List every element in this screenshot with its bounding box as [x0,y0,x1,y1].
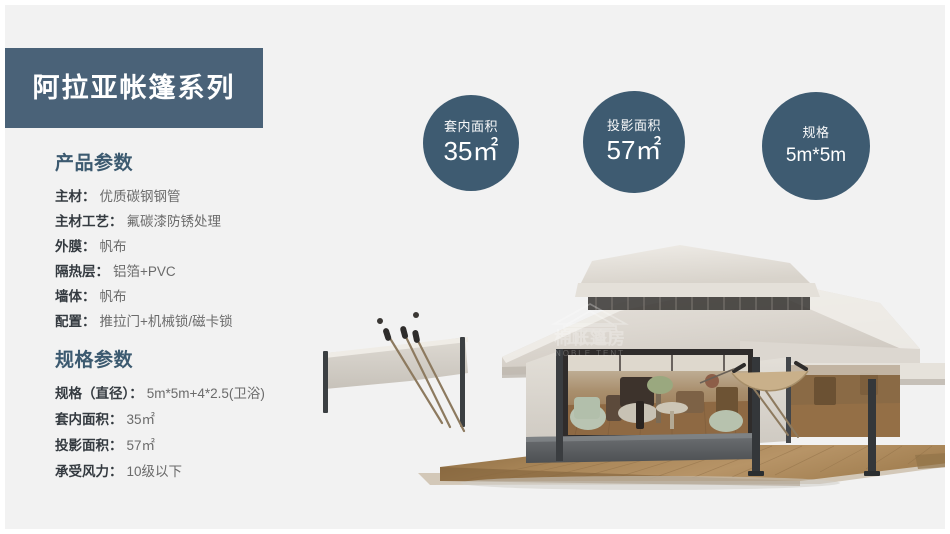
spec-label: 墙体： [55,289,96,304]
spec-label: 外膜： [55,239,96,254]
stat-circle-label: 套内面积 [444,119,498,135]
spec-row: 投影面积：57㎡ [55,433,355,459]
spec-label: 投影面积： [55,438,123,453]
spec-value: 57㎡ [123,438,156,453]
spec-value: 氟碳漆防锈处理 [123,214,222,229]
spec-row: 承受风力：10级以下 [55,459,355,485]
spec-params-heading: 规格参数 [55,350,355,373]
spec-row: 主材：优质碳钢钢管 [55,184,355,209]
spec-value: 10级以下 [123,464,183,479]
spec-label: 配置： [55,314,96,329]
spec-label: 主材： [55,189,96,204]
stat-circle-value: 35㎡ [444,137,499,167]
slide-canvas: 阿拉亚帐篷系列 产品参数 主材：优质碳钢钢管 主材工艺：氟碳漆防锈处理 外膜：帆… [5,5,945,529]
stat-circle-label: 规格 [802,125,829,141]
spec-label: 规格（直径）： [55,386,143,401]
spec-row: 配置：推拉门+机械锁/磁卡锁 [55,309,355,334]
stat-circle-dimensions: 规格 5m*5m [762,92,870,200]
spec-params-list: 规格（直径）：5m*5m+4*2.5(卫浴) 套内面积：35㎡ 投影面积：57㎡… [55,381,355,485]
spec-label: 主材工艺： [55,214,123,229]
spec-row: 墙体：帆布 [55,284,355,309]
spec-value: 铝箔+PVC [109,264,176,279]
spec-value: 5m*5m+4*2.5(卫浴) [143,386,265,401]
spec-row: 套内面积：35㎡ [55,407,355,433]
page-title: 阿拉亚帐篷系列 [33,75,236,102]
spec-value: 帆布 [96,289,127,304]
slide-page: 阿拉亚帐篷系列 产品参数 主材：优质碳钢钢管 主材工艺：氟碳漆防锈处理 外膜：帆… [0,0,950,534]
spec-value: 优质碳钢钢管 [96,189,181,204]
spec-value: 35㎡ [123,412,156,427]
spec-value: 帆布 [96,239,127,254]
spec-row: 隔热层：铝箔+PVC [55,259,355,284]
product-params-heading: 产品参数 [55,153,355,176]
stat-circle-value: 57㎡ [607,136,662,166]
spec-value: 推拉门+机械锁/磁卡锁 [96,314,233,329]
stat-circle-value: 5m*5m [786,145,846,167]
spec-label: 套内面积： [55,412,123,427]
spec-row: 外膜：帆布 [55,234,355,259]
spec-row: 规格（直径）：5m*5m+4*2.5(卫浴) [55,381,355,407]
product-params-list: 主材：优质碳钢钢管 主材工艺：氟碳漆防锈处理 外膜：帆布 隔热层：铝箔+PVC … [55,184,355,334]
specification-column: 产品参数 主材：优质碳钢钢管 主材工艺：氟碳漆防锈处理 外膜：帆布 隔热层：铝箔… [55,153,355,501]
spec-label: 隔热层： [55,264,109,279]
stat-circle-projected-area: 投影面积 57㎡ [583,91,685,193]
spec-label: 承受风力： [55,464,123,479]
spec-row: 主材工艺：氟碳漆防锈处理 [55,209,355,234]
luxury-tent-illustration [320,245,945,510]
stat-circle-label: 投影面积 [607,118,661,134]
title-banner: 阿拉亚帐篷系列 [5,48,263,128]
stat-circle-interior-area: 套内面积 35㎡ [423,95,519,191]
